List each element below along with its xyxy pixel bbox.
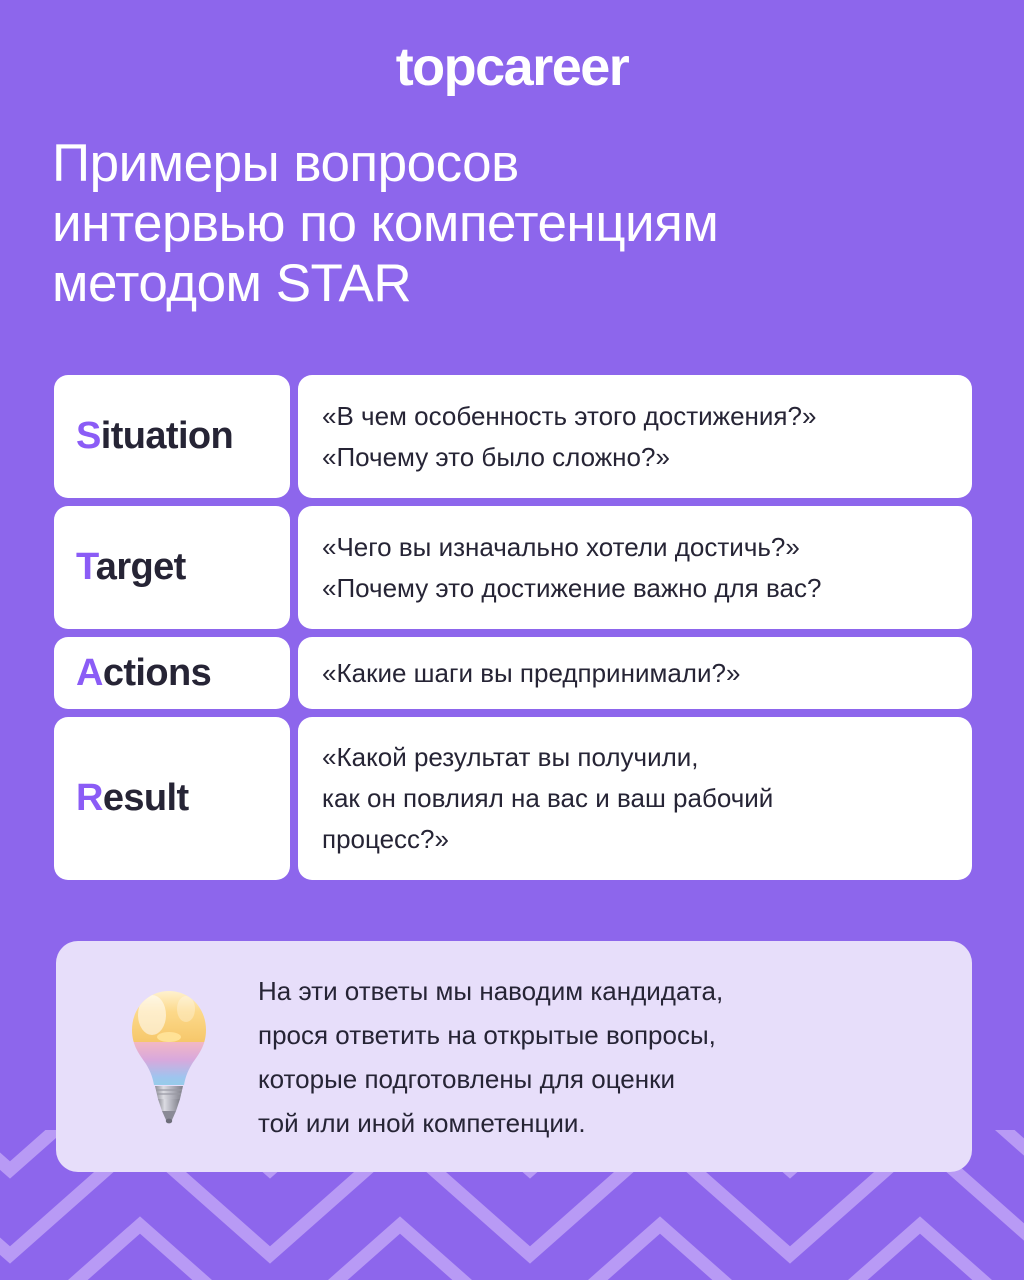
note-callout: На эти ответы мы наводим кандидата, прос… (56, 941, 972, 1172)
star-label-actions: Actions (76, 652, 211, 695)
table-row: Situation «В чем особенность этого дости… (54, 375, 972, 498)
star-method-table: Situation «В чем особенность этого дости… (54, 375, 972, 880)
star-initial-letter: R (76, 777, 103, 819)
star-initial-letter: A (76, 652, 103, 694)
star-question: как он повлиял на вас и ваш рабочий (322, 778, 946, 819)
star-question: «Какие шаги вы предпринимали?» (322, 653, 946, 694)
brand-logo: topcareer (0, 40, 1024, 94)
lightbulb-icon-svg (126, 987, 212, 1127)
star-questions-card-situation: «В чем особенность этого достижения?» «П… (298, 375, 972, 498)
star-questions-card-actions: «Какие шаги вы предпринимали?» (298, 637, 972, 709)
page-title-line-2: интервью по компетенциям (52, 194, 982, 254)
note-line-1: На эти ответы мы наводим кандидата, (258, 969, 723, 1013)
star-question: «В чем особенность этого достижения?» (322, 396, 946, 437)
lightbulb-icon (126, 987, 212, 1127)
note-line-2: прося ответить на открытые вопросы, (258, 1013, 723, 1057)
star-question: «Почему это достижение важно для вас? (322, 568, 946, 609)
note-line-3: которые подготовлены для оценки (258, 1057, 723, 1101)
star-label-target: Target (76, 546, 186, 589)
star-initial-letter: T (76, 546, 96, 588)
star-label-rest: ituation (101, 415, 233, 457)
star-label-card-actions: Actions (54, 637, 290, 709)
star-questions-card-result: «Какой результат вы получили, как он пов… (298, 717, 972, 880)
star-label-rest: ctions (103, 652, 211, 694)
star-initial-letter: S (76, 415, 101, 457)
star-question: «Почему это было сложно?» (322, 437, 946, 478)
table-row: Result «Какой результат вы получили, как… (54, 717, 972, 880)
star-label-result: Result (76, 777, 189, 820)
star-question: «Чего вы изначально хотели достичь?» (322, 527, 946, 568)
note-line-4: той или иной компетенции. (258, 1101, 723, 1145)
star-label-card-result: Result (54, 717, 290, 880)
table-row: Target «Чего вы изначально хотели достич… (54, 506, 972, 629)
note-text: На эти ответы мы наводим кандидата, прос… (258, 969, 723, 1145)
star-label-rest: arget (96, 546, 186, 588)
star-label-card-target: Target (54, 506, 290, 629)
star-label-rest: esult (103, 777, 189, 819)
star-label-situation: Situation (76, 415, 233, 458)
star-question: «Какой результат вы получили, (322, 737, 946, 778)
table-row: Actions «Какие шаги вы предпринимали?» (54, 637, 972, 709)
star-label-card-situation: Situation (54, 375, 290, 498)
page-title-line-1: Примеры вопросов (52, 134, 982, 194)
page-title: Примеры вопросов интервью по компетенция… (52, 134, 982, 314)
star-questions-card-target: «Чего вы изначально хотели достичь?» «По… (298, 506, 972, 629)
page-title-line-3: методом STAR (52, 254, 982, 314)
star-question: процесс?» (322, 819, 946, 860)
